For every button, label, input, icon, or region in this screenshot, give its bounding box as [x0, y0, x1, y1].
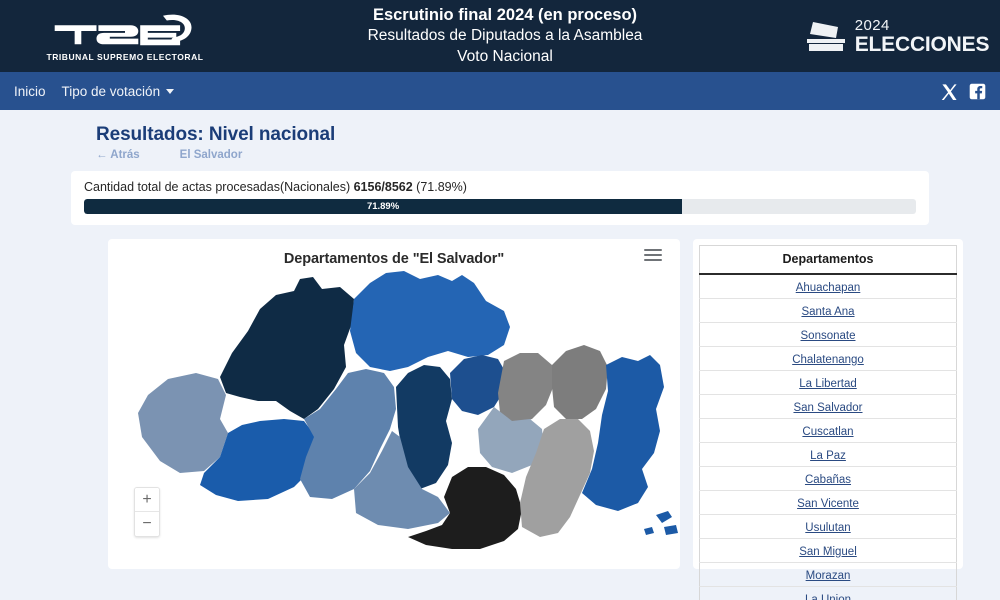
- departments-footer-dot: .: [693, 539, 963, 551]
- tse-logo: TRIBUNAL SUPREMO ELECTORAL: [0, 10, 250, 62]
- department-link[interactable]: La Union: [805, 594, 851, 600]
- breadcrumb: ← Atrás El Salvador: [96, 149, 1000, 161]
- departments-table-header: Departamentos: [700, 246, 957, 275]
- page-title-block: Resultados: Nivel nacional ← Atrás El Sa…: [0, 124, 1000, 161]
- map-region-la-union-island: [644, 527, 654, 535]
- map-region-la-union-island: [656, 511, 672, 523]
- departments-table-cell: Ahuachapan: [700, 274, 957, 299]
- map-zoom-in-button[interactable]: +: [135, 488, 159, 512]
- department-link[interactable]: San Vicente: [797, 498, 859, 510]
- header-title-block: Escrutinio final 2024 (en proceso) Resul…: [250, 5, 800, 68]
- map-region-morazan[interactable]: [552, 345, 608, 419]
- departments-table-header-row: Departamentos: [700, 246, 957, 275]
- chart-menu-icon-bar: [644, 249, 662, 251]
- departments-table-cell: La Paz: [700, 443, 957, 467]
- nav-item-tipo-de-votacion-label: Tipo de votación: [62, 84, 161, 99]
- actas-progress-label-prefix: Cantidad total de actas procesadas(Nacio…: [84, 180, 354, 194]
- departments-table-cell: La Libertad: [700, 371, 957, 395]
- departments-table-cell: La Union: [700, 587, 957, 600]
- back-link[interactable]: ← Atrás: [96, 149, 140, 161]
- department-link[interactable]: Chalatenango: [792, 354, 864, 366]
- table-row: San Salvador: [700, 395, 957, 419]
- table-row: Usulutan: [700, 515, 957, 539]
- map-card: Departamentos de "El Salvador": [108, 239, 680, 569]
- department-link[interactable]: Santa Ana: [801, 306, 854, 318]
- table-row: La Union: [700, 587, 957, 600]
- table-row: Santa Ana: [700, 299, 957, 323]
- page-content: Resultados: Nivel nacional ← Atrás El Sa…: [0, 110, 1000, 569]
- actas-progress-label-suffix: (71.89%): [413, 180, 467, 194]
- el-salvador-departments-map[interactable]: [108, 261, 680, 569]
- tse-logo-mark: [45, 12, 205, 50]
- departments-table-body: AhuachapanSanta AnaSonsonateChalatenango…: [700, 274, 957, 600]
- table-row: La Libertad: [700, 371, 957, 395]
- header-title-line3: Voto Nacional: [250, 47, 760, 67]
- table-row: La Paz: [700, 443, 957, 467]
- breadcrumb-current: El Salvador: [180, 149, 243, 161]
- social-links: [941, 83, 986, 100]
- map-zoom-controls[interactable]: + −: [134, 487, 160, 537]
- chart-menu-icon-bar: [644, 254, 662, 256]
- department-link[interactable]: Sonsonate: [801, 330, 856, 342]
- department-link[interactable]: Morazan: [806, 570, 851, 582]
- map-region-ahuachapan[interactable]: [138, 373, 228, 473]
- departments-card: Departamentos AhuachapanSanta AnaSonsona…: [693, 239, 963, 569]
- table-row: Morazan: [700, 563, 957, 587]
- table-row: Sonsonate: [700, 323, 957, 347]
- department-link[interactable]: La Paz: [810, 450, 846, 462]
- nav-item-inicio-label: Inicio: [14, 84, 46, 99]
- actas-progress-card: Cantidad total de actas procesadas(Nacio…: [71, 171, 929, 225]
- actas-progress-label: Cantidad total de actas procesadas(Nacio…: [84, 180, 916, 194]
- department-link[interactable]: Usulutan: [805, 522, 850, 534]
- actas-progress-fill: 71.89%: [84, 199, 682, 214]
- facebook-icon[interactable]: [969, 83, 986, 100]
- elecciones-2024-logo: 2024 ELECCIONES: [800, 18, 1000, 55]
- map-zoom-out-button[interactable]: −: [135, 512, 159, 536]
- nav-item-inicio[interactable]: Inicio: [14, 84, 46, 99]
- table-row: Cabañas: [700, 467, 957, 491]
- ballot-box-icon: [805, 19, 847, 53]
- department-link[interactable]: Ahuachapan: [796, 282, 861, 294]
- departments-table-cell: San Salvador: [700, 395, 957, 419]
- elecciones-word: ELECCIONES: [855, 34, 990, 55]
- table-row: Ahuachapan: [700, 274, 957, 299]
- departments-table-cell: Chalatenango: [700, 347, 957, 371]
- elecciones-logo-text: 2024 ELECCIONES: [855, 18, 990, 55]
- department-link[interactable]: Cuscatlan: [802, 426, 853, 438]
- map-region-cabanas[interactable]: [498, 353, 554, 423]
- departments-table-cell: Usulutan: [700, 515, 957, 539]
- x-twitter-icon[interactable]: [941, 83, 958, 100]
- departments-table-cell: Morazan: [700, 563, 957, 587]
- departments-table-cell: Cabañas: [700, 467, 957, 491]
- table-row: San Vicente: [700, 491, 957, 515]
- tse-logo-subtitle: TRIBUNAL SUPREMO ELECTORAL: [46, 52, 203, 62]
- department-link[interactable]: La Libertad: [799, 378, 857, 390]
- actas-progress-track: 71.89%: [84, 199, 916, 214]
- map-region-cuscatlan[interactable]: [450, 355, 506, 415]
- actas-progress-counts: 6156/8562: [354, 180, 413, 194]
- chevron-down-icon: [166, 89, 174, 94]
- departments-table-cell: Cuscatlan: [700, 419, 957, 443]
- table-row: Chalatenango: [700, 347, 957, 371]
- table-row: Cuscatlan: [700, 419, 957, 443]
- departments-table-cell: San Vicente: [700, 491, 957, 515]
- department-link[interactable]: San Salvador: [793, 402, 862, 414]
- header-title-line1: Escrutinio final 2024 (en proceso): [250, 5, 760, 27]
- departments-table-cell: Santa Ana: [700, 299, 957, 323]
- elecciones-year: 2024: [855, 18, 990, 33]
- nav-item-tipo-de-votacion[interactable]: Tipo de votación: [62, 84, 175, 99]
- department-link[interactable]: Cabañas: [805, 474, 851, 486]
- main-row: Departamentos de "El Salvador": [0, 225, 1000, 569]
- page-title: Resultados: Nivel nacional: [96, 124, 1000, 146]
- departments-table-cell: Sonsonate: [700, 323, 957, 347]
- header-title-line2: Resultados de Diputados a la Asamblea: [250, 26, 760, 46]
- main-navbar: Inicio Tipo de votación: [0, 72, 1000, 110]
- tse-logo-svg: [45, 12, 205, 50]
- site-header: TRIBUNAL SUPREMO ELECTORAL Escrutinio fi…: [0, 0, 1000, 72]
- map-region-la-union-island: [664, 525, 678, 535]
